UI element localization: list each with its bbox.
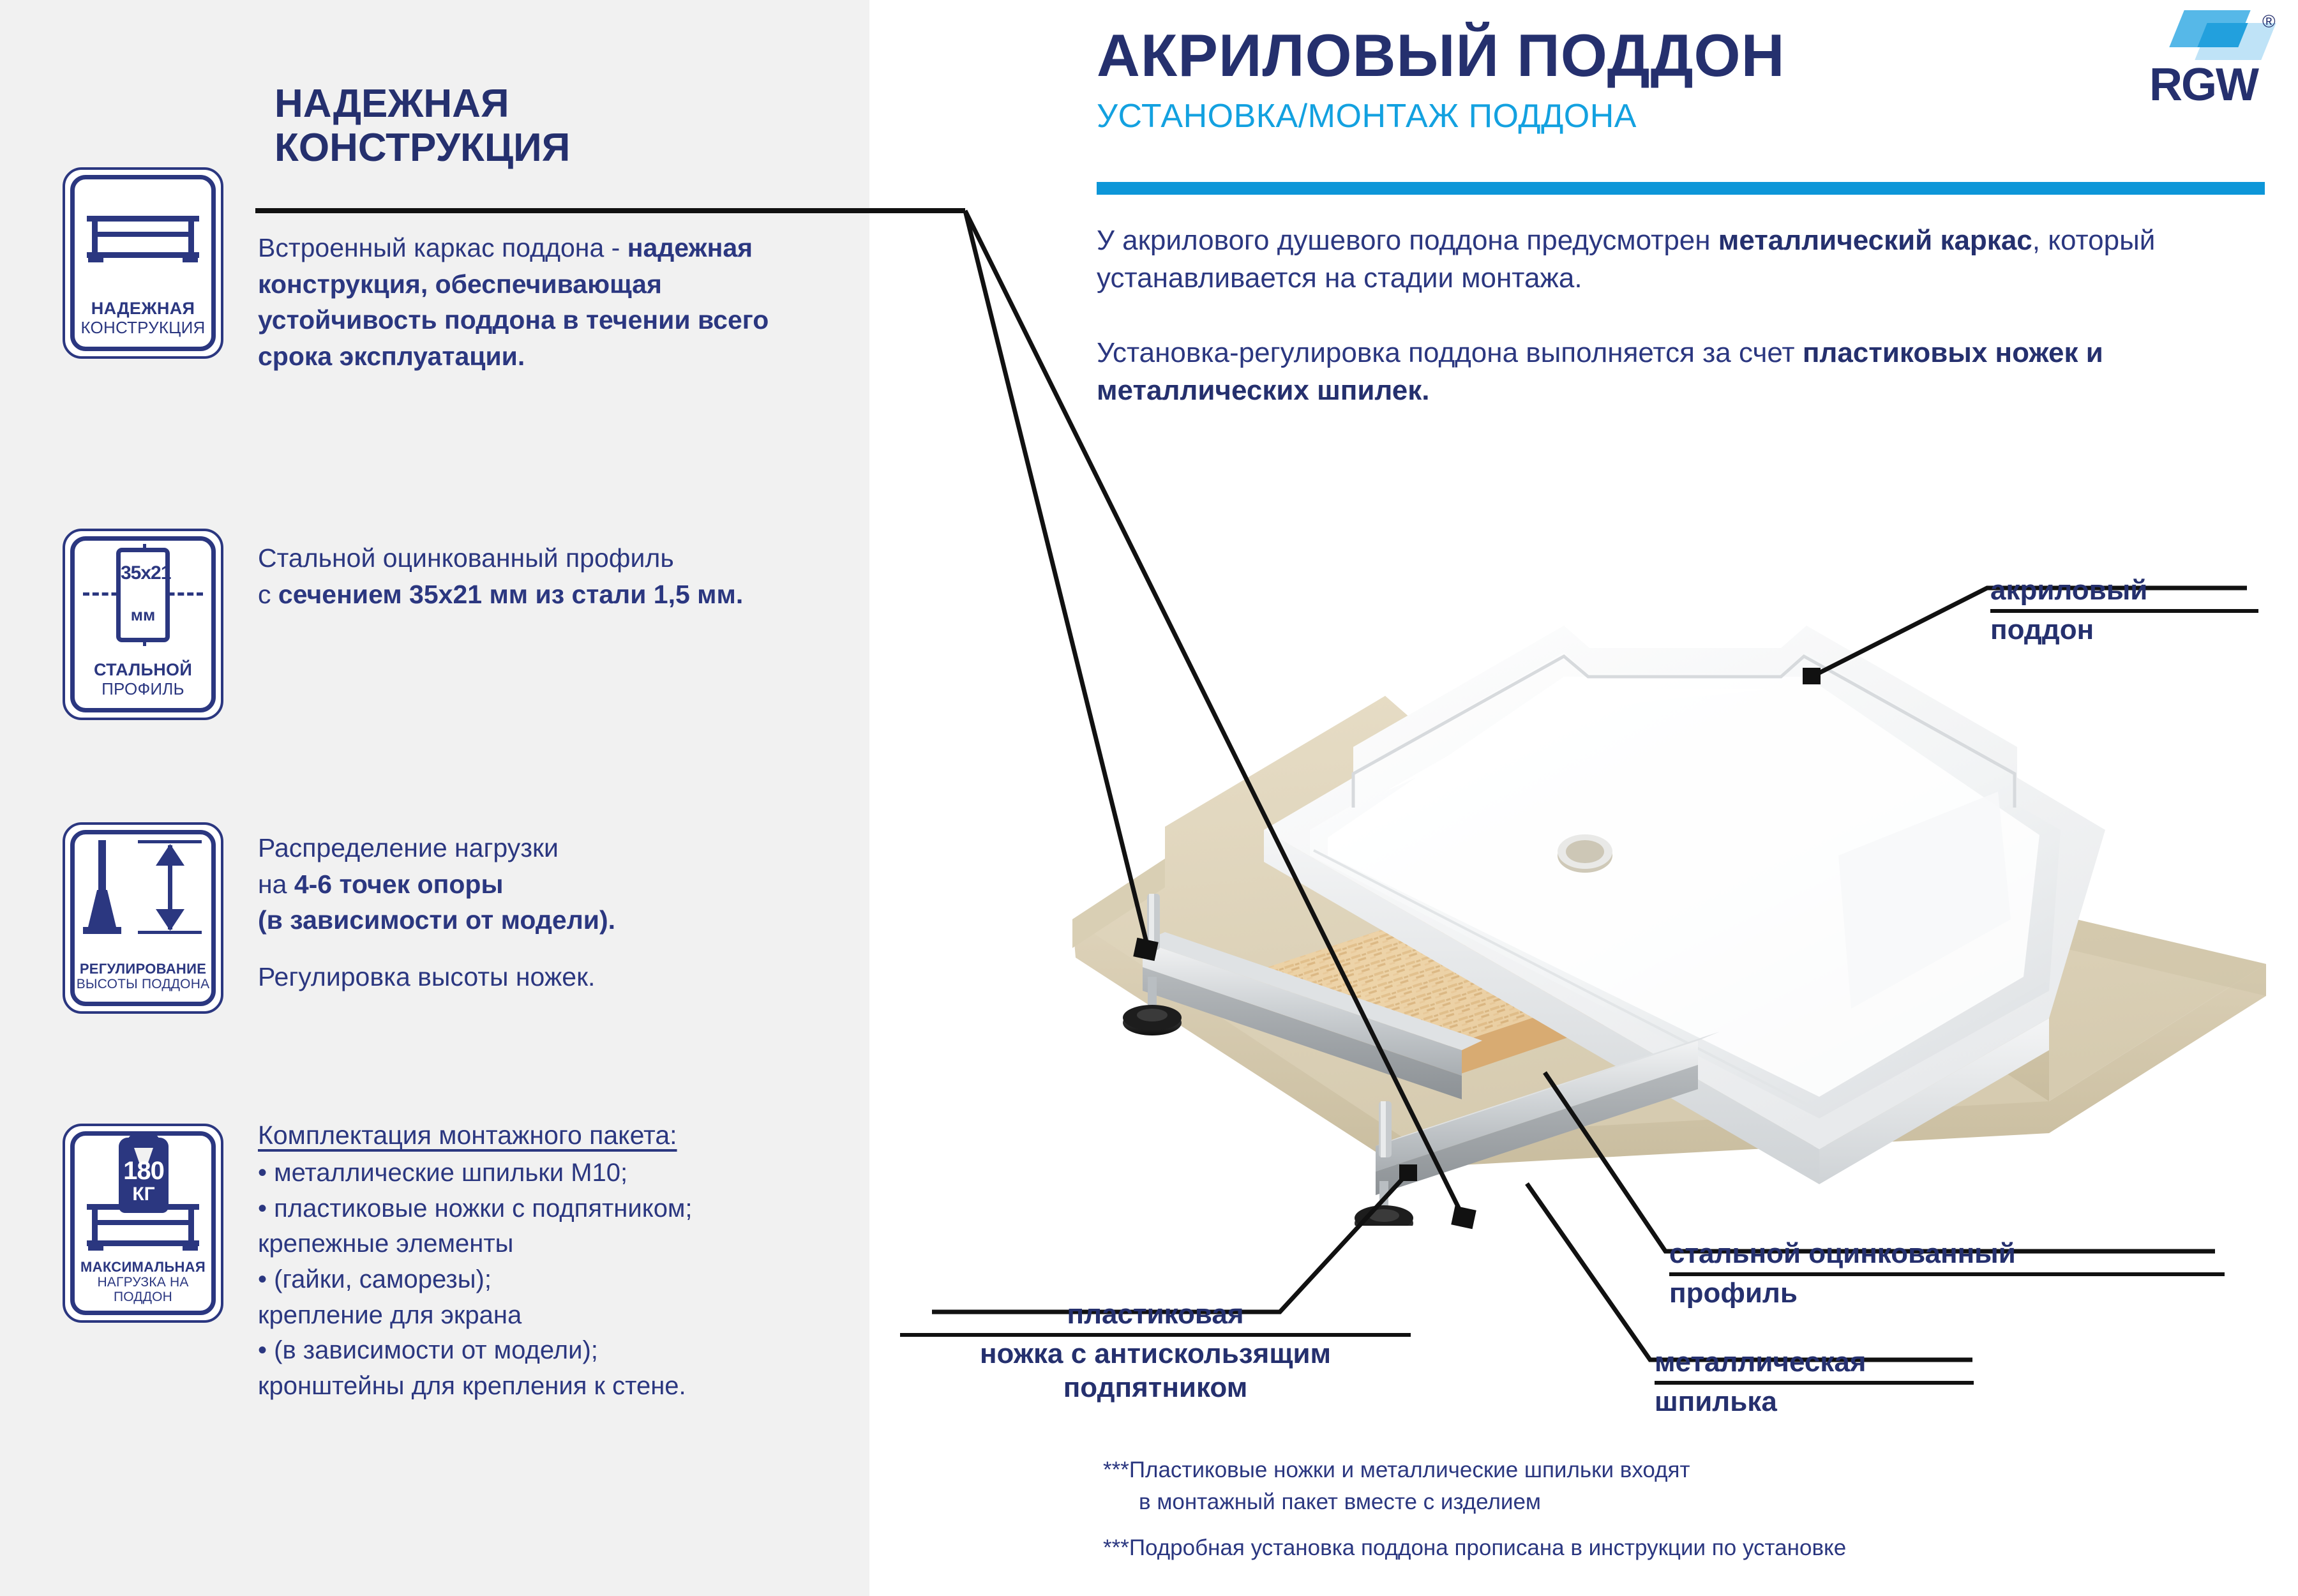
list-item: • пластиковые ножки с подпятником; [258, 1192, 820, 1226]
feature-text-reliable-construction: Встроенный каркас поддона - надежная кон… [258, 230, 794, 374]
feature-block-max-load: 180 КГ МАКСИМАЛЬНАЯ НАГРУЗКА НА ПОДДОН [63, 1124, 820, 1404]
profile-section-icon: 35х21 мм [65, 546, 221, 647]
feature-text-height-adjust: Распределение нагрузки на 4-6 точек опор… [258, 830, 807, 1014]
header-accent-rule [1097, 182, 2265, 195]
infographic-page: АКРИЛОВЫЙ ПОДДОН УСТАНОВКА/МОНТАЖ ПОДДОН… [0, 0, 2298, 1596]
badge-reliable-construction: НАДЕЖНАЯ КОНСТРУКЦИЯ [63, 167, 223, 359]
max-load-icon: 180 КГ [65, 1135, 221, 1250]
frame-rail-icon [65, 185, 221, 286]
callout-acrylic-tray: акриловый поддон [1990, 573, 2258, 647]
feature-block-steel-profile: 35х21 мм СТАЛЬНОЙ ПРОФИЛЬ Стальной оцинк… [63, 529, 794, 720]
badge-height-adjust: РЕГУЛИРОВАНИЕ ВЫСОТЫ ПОДДОНА [63, 822, 223, 1014]
callout-steel-profile: стальной оцинкованный профиль [1669, 1237, 2225, 1310]
badge-steel-profile: 35х21 мм СТАЛЬНОЙ ПРОФИЛЬ [63, 529, 223, 720]
rgw-logo-text: RGW [2137, 59, 2270, 111]
badge-caption: НАДЕЖНАЯ КОНСТРУКЦИЯ [69, 299, 217, 337]
callout-metal-stud: металлическая шпилька [1655, 1345, 1974, 1419]
list-item: кронштейны для крепления к стене. [258, 1369, 820, 1404]
list-item: крепление для экрана [258, 1299, 820, 1333]
list-item: • (в зависимости от модели); [258, 1334, 820, 1368]
badge-caption: РЕГУЛИРОВАНИЕ ВЫСОТЫ ПОДДОНА [69, 961, 217, 992]
footnote-2: ***Подробная установка поддона прописана… [1103, 1532, 2252, 1564]
header: АКРИЛОВЫЙ ПОДДОН УСТАНОВКА/МОНТАЖ ПОДДОН… [1097, 26, 2265, 192]
pack-item-list: • металлические шпильки М10; • пластиков… [258, 1156, 820, 1403]
list-item: • металлические шпильки М10; [258, 1156, 820, 1191]
badge-caption: СТАЛЬНОЙ ПРОФИЛЬ [69, 661, 217, 698]
intro-paragraph-2: Установка-регулировка поддона выполняетс… [1097, 335, 2271, 410]
section-heading: НАДЕЖНАЯ КОНСТРУКЦИЯ [274, 82, 570, 170]
pack-title: Комплектация монтажного пакета: [258, 1118, 820, 1152]
feature-text-steel-profile: Стальной оцинкованный профиль с сечением… [258, 540, 794, 720]
feature-block-height-adjust: РЕГУЛИРОВАНИЕ ВЫСОТЫ ПОДДОНА Распределен… [63, 822, 807, 1014]
footnote-1: ***Пластиковые ножки и металлические шпи… [1103, 1454, 2252, 1517]
feature-block-reliable-construction: НАДЕЖНАЯ КОНСТРУКЦИЯ Встроенный каркас п… [63, 167, 794, 374]
badge-max-load: 180 КГ МАКСИМАЛЬНАЯ НАГРУЗКА НА ПОДДОН [63, 1124, 223, 1323]
page-title: АКРИЛОВЫЙ ПОДДОН [1097, 26, 2265, 86]
intro-paragraph-1: У акрилового душевого поддона предусмотр… [1097, 222, 2271, 297]
registered-trademark-icon: ® [2262, 11, 2276, 32]
badge-caption: МАКСИМАЛЬНАЯ НАГРУЗКА НА ПОДДОН [69, 1260, 217, 1305]
feature-text-max-load: Комплектация монтажного пакета: • металл… [258, 1118, 820, 1404]
callout-plastic-foot: пластиковая ножка с антискользящим подпя… [900, 1297, 1411, 1405]
rgw-logo: ® RGW [2137, 6, 2284, 128]
list-item: • (гайки, саморезы); [258, 1263, 820, 1297]
page-subtitle: УСТАНОВКА/МОНТАЖ ПОДДОНА [1097, 97, 2265, 135]
height-adjust-icon [65, 840, 221, 941]
intro-paragraphs: У акрилового душевого поддона предусмотр… [1097, 222, 2271, 447]
list-item: крепежные элементы [258, 1227, 820, 1261]
